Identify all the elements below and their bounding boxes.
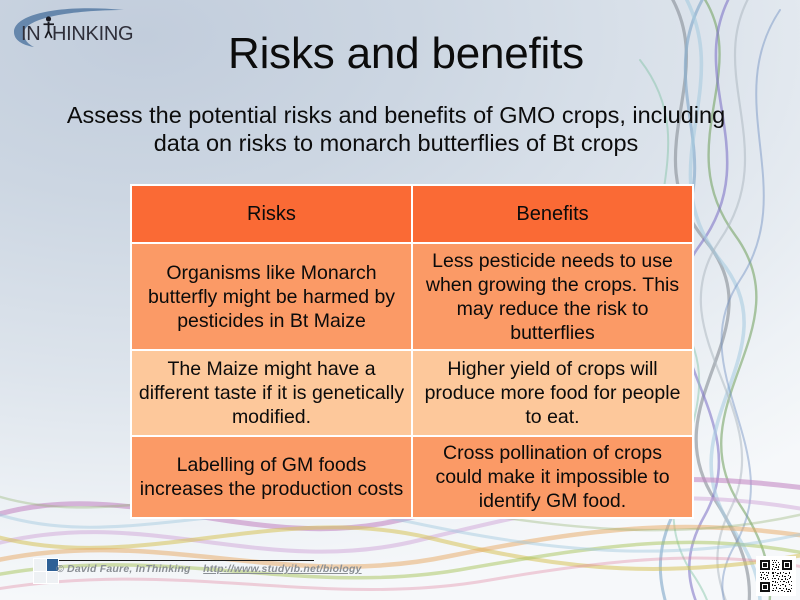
cell-benefit-3: Cross pollination of crops could make it… [413, 437, 692, 517]
footer-copyright: © David Faure, InThinking [56, 563, 191, 575]
footer-url[interactable]: http://www.studyib.net/biology [203, 563, 361, 575]
cell-benefit-2: Higher yield of crops will produce more … [413, 351, 692, 435]
cell-risk-1: Organisms like Monarch butterfly might b… [132, 244, 411, 349]
table-row: The Maize might have a different taste i… [132, 351, 692, 435]
qr-code[interactable] [756, 556, 796, 596]
column-header-risks: Risks [132, 186, 411, 242]
risks-benefits-table: Risks Benefits Organisms like Monarch bu… [130, 184, 694, 519]
icon-quadrant-tl [34, 559, 46, 571]
page-title: Risks and benefits [0, 28, 800, 80]
qr-code-image [758, 558, 794, 594]
column-header-benefits: Benefits [413, 186, 692, 242]
risks-benefits-table-container: Risks Benefits Organisms like Monarch bu… [130, 184, 694, 519]
cell-risk-2: The Maize might have a different taste i… [132, 351, 411, 435]
cell-benefit-1: Less pesticide needs to use when growing… [413, 244, 692, 349]
slide-canvas: IN HINKING Risks and benefits Assess the… [0, 0, 800, 600]
table-row: Organisms like Monarch butterfly might b… [132, 244, 692, 349]
footer-credit: © David Faure, InThinking http://www.stu… [56, 562, 362, 576]
table-row: Labelling of GM foods increases the prod… [132, 437, 692, 517]
footer-divider [52, 560, 314, 561]
slide-subtitle: Assess the potential risks and benefits … [46, 101, 746, 157]
table-header-row: Risks Benefits [132, 186, 692, 242]
icon-quadrant-bl [34, 572, 46, 584]
cell-risk-3: Labelling of GM foods increases the prod… [132, 437, 411, 517]
